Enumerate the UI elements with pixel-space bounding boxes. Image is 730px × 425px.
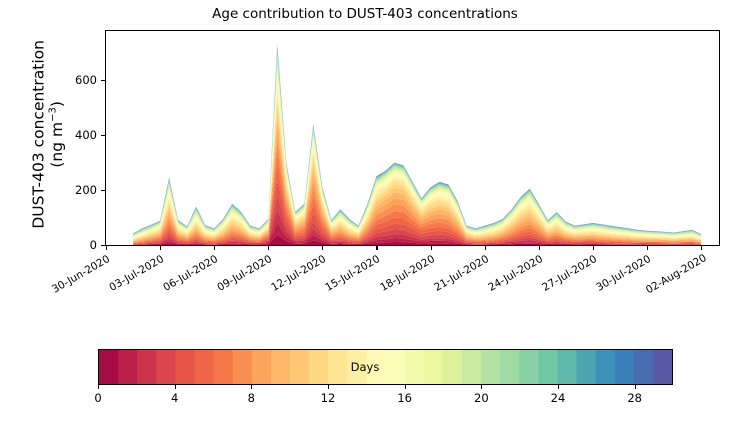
colorbar-tick-label: 4: [171, 391, 178, 405]
x-axis-tick-mark: [322, 246, 323, 250]
x-axis-tick-mark: [268, 246, 269, 250]
colorbar-label: Days: [0, 360, 730, 374]
y-axis-label-line1: DUST-403 concentration: [30, 40, 48, 229]
x-axis-tick-mark: [485, 246, 486, 250]
colorbar-tick-mark: [558, 385, 559, 389]
x-axis-tick-label: 30-Jul-2020: [590, 253, 653, 296]
x-axis-tick-mark: [214, 246, 215, 250]
colorbar-tick-mark: [328, 385, 329, 389]
y-axis-tick-label: 600: [63, 73, 97, 87]
colorbar-tick-label: 0: [94, 391, 101, 405]
colorbar-tick-mark: [405, 385, 406, 389]
x-axis-tick-mark: [593, 246, 594, 250]
y-axis-label: DUST-403 concentration (ng m−3): [30, 26, 67, 242]
colorbar-tick-label: 28: [627, 391, 642, 405]
colorbar-tick-mark: [251, 385, 252, 389]
x-axis-tick-label: 02-Aug-2020: [644, 253, 707, 296]
x-axis-tick-label: 27-Jul-2020: [536, 253, 599, 296]
chart-title: Age contribution to DUST-403 concentrati…: [0, 6, 730, 22]
plot-area: [105, 30, 720, 246]
x-axis-tick-mark: [701, 246, 702, 250]
x-axis-tick-label: 06-Jul-2020: [157, 253, 220, 296]
x-axis-tick-label: 12-Jul-2020: [265, 253, 328, 296]
colorbar-tick-label: 16: [397, 391, 412, 405]
x-axis-tick-mark: [647, 246, 648, 250]
y-axis-label-wrapper: DUST-403 concentration (ng m−3): [2, 30, 48, 246]
chart-root: Age contribution to DUST-403 concentrati…: [0, 0, 730, 425]
x-axis-tick-label: 09-Jul-2020: [211, 253, 274, 296]
x-axis-tick-label: 24-Jul-2020: [482, 253, 545, 296]
x-axis-tick-mark: [160, 246, 161, 250]
x-axis-tick-mark: [539, 246, 540, 250]
colorbar-tick-mark: [481, 385, 482, 389]
y-axis-tick-mark: [101, 190, 105, 191]
stacked-area-plot: [106, 31, 719, 245]
colorbar-tick-mark: [175, 385, 176, 389]
x-axis-tick-label: 30-Jun-2020: [49, 253, 112, 296]
x-axis-tick-label: 18-Jul-2020: [373, 253, 436, 296]
y-axis-tick-mark: [101, 135, 105, 136]
y-axis-label-exponent: −3: [48, 107, 59, 122]
y-axis-tick-label: 200: [63, 183, 97, 197]
x-axis-tick-label: 21-Jul-2020: [427, 253, 490, 296]
y-axis-tick-label: 400: [63, 128, 97, 142]
x-axis-tick-mark: [431, 246, 432, 250]
x-axis-tick-label: 15-Jul-2020: [319, 253, 382, 296]
x-axis-tick-label: 03-Jul-2020: [103, 253, 166, 296]
y-axis-label-close: ): [48, 101, 66, 107]
y-axis-tick-mark: [101, 245, 105, 246]
colorbar-tick-mark: [635, 385, 636, 389]
x-axis-tick-mark: [106, 246, 107, 250]
colorbar-tick-label: 24: [551, 391, 566, 405]
colorbar-tick-label: 12: [321, 391, 336, 405]
colorbar-tick-label: 20: [474, 391, 489, 405]
y-axis-tick-mark: [101, 80, 105, 81]
y-axis-tick-label: 0: [63, 238, 97, 252]
x-axis-tick-mark: [376, 246, 377, 250]
colorbar-tick-label: 8: [248, 391, 255, 405]
colorbar-tick-mark: [98, 385, 99, 389]
